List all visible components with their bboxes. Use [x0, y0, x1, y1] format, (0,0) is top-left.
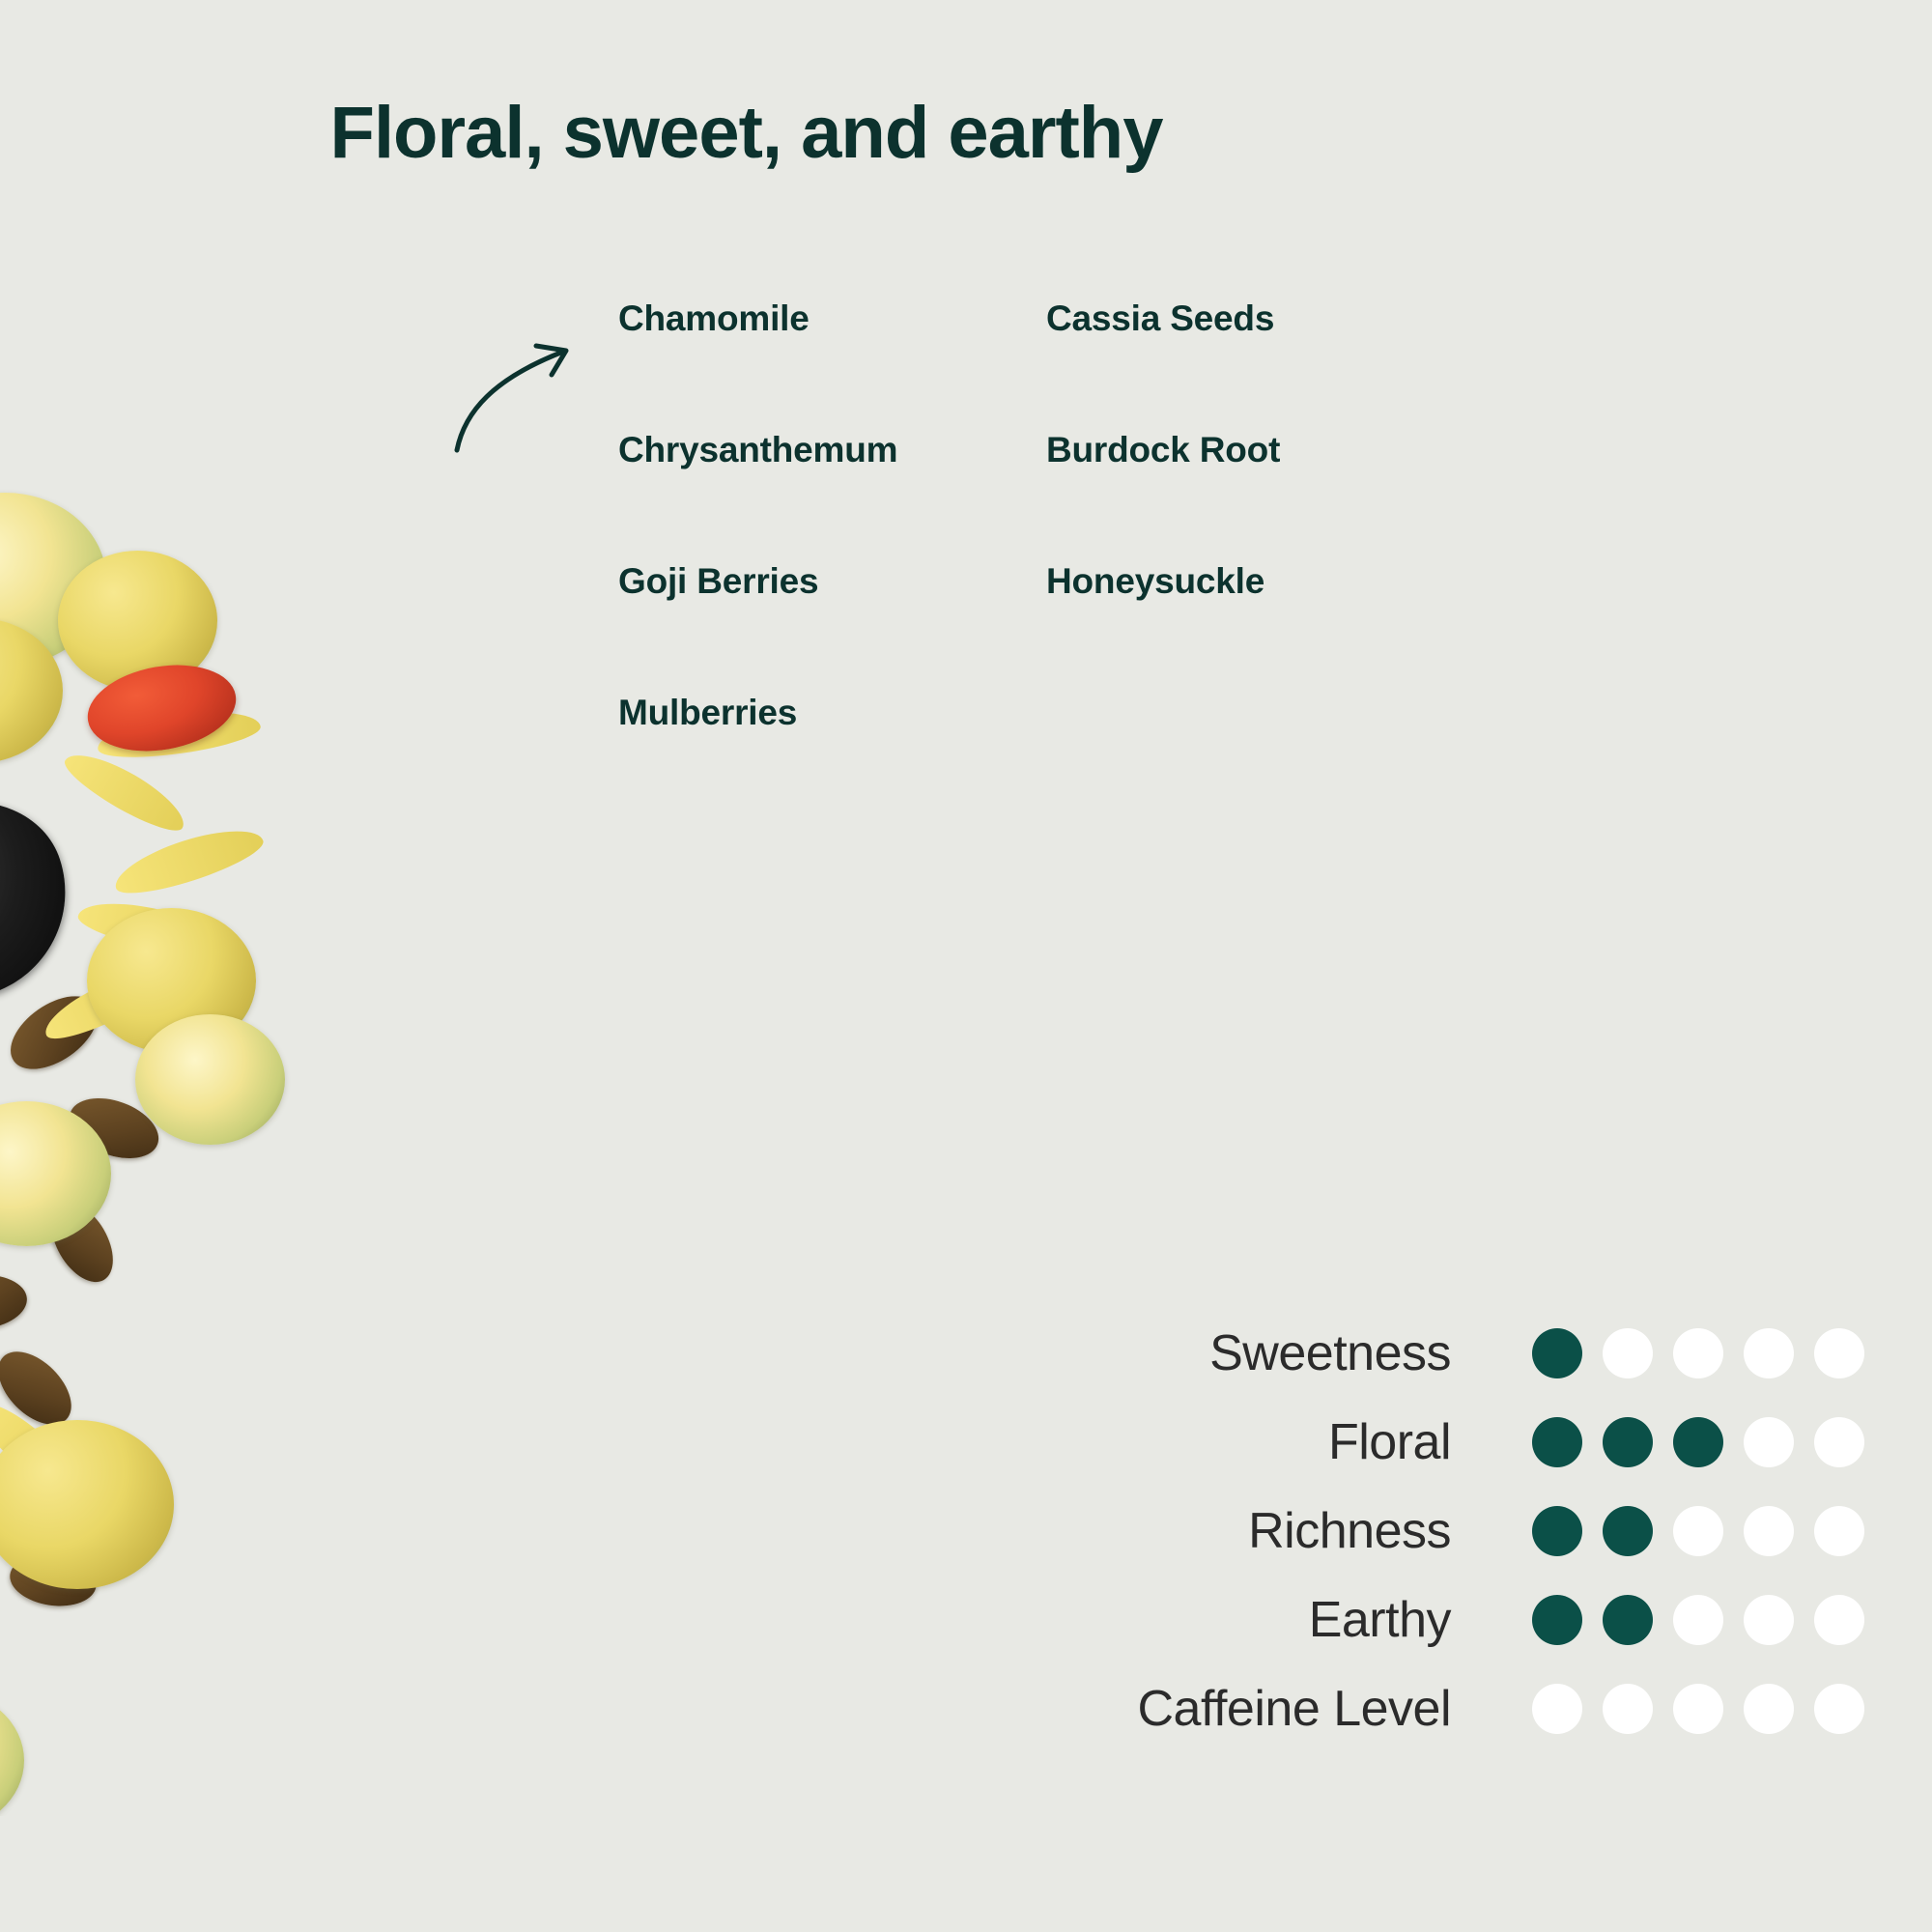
rating-dot-empty [1814, 1506, 1864, 1556]
rating-dot-empty [1814, 1595, 1864, 1645]
flavor-label: Floral [949, 1413, 1532, 1471]
rating-dots [1532, 1684, 1864, 1734]
rating-dot-filled [1603, 1595, 1653, 1645]
rating-dot-filled [1532, 1417, 1582, 1467]
rating-dot-filled [1603, 1417, 1653, 1467]
flavor-profile-row: Sweetness [580, 1309, 1864, 1398]
rating-dot-empty [1744, 1417, 1794, 1467]
ingredient-column-left: Chamomile Chrysanthemum Goji Berries Mul… [618, 290, 1024, 815]
rating-dot-filled [1532, 1506, 1582, 1556]
rating-dot-filled [1603, 1506, 1653, 1556]
flavor-profile-row: Richness [580, 1487, 1864, 1576]
rating-dot-empty [1744, 1595, 1794, 1645]
ingredient-column-right: Cassia Seeds Burdock Root Honeysuckle [1046, 290, 1452, 684]
rating-dot-empty [1603, 1684, 1653, 1734]
rating-dot-empty [1603, 1328, 1653, 1378]
rating-dots [1532, 1328, 1864, 1378]
ingredient-item: Chrysanthemum [618, 421, 1024, 553]
rating-dot-filled [1532, 1595, 1582, 1645]
rating-dots [1532, 1595, 1864, 1645]
rating-dot-empty [1744, 1684, 1794, 1734]
flavor-label: Sweetness [949, 1324, 1532, 1382]
ingredient-item: Goji Berries [618, 553, 1024, 684]
ingredient-item: Mulberries [618, 684, 1024, 815]
ingredient-item: Burdock Root [1046, 421, 1452, 553]
ingredient-item: Honeysuckle [1046, 553, 1452, 684]
ingredient-item: Cassia Seeds [1046, 290, 1452, 421]
flavor-label: Richness [949, 1502, 1532, 1560]
rating-dot-empty [1814, 1417, 1864, 1467]
curved-arrow-icon [440, 319, 623, 454]
flavor-profile-row: Caffeine Level [580, 1664, 1864, 1753]
flavor-profile-row: Floral [580, 1398, 1864, 1487]
rating-dot-empty [1673, 1595, 1723, 1645]
rating-dot-empty [1673, 1506, 1723, 1556]
rating-dot-filled [1532, 1328, 1582, 1378]
rating-dots [1532, 1506, 1864, 1556]
rating-dots [1532, 1417, 1864, 1467]
flavor-label: Caffeine Level [949, 1680, 1532, 1738]
rating-dot-empty [1814, 1328, 1864, 1378]
rating-dot-empty [1744, 1506, 1794, 1556]
rating-dot-filled [1673, 1417, 1723, 1467]
flavor-profile: SweetnessFloralRichnessEarthyCaffeine Le… [580, 1309, 1864, 1753]
rating-dot-empty [1532, 1684, 1582, 1734]
page-title: Floral, sweet, and earthy [0, 93, 1492, 174]
flavor-profile-row: Earthy [580, 1576, 1864, 1664]
flavor-label: Earthy [949, 1591, 1532, 1649]
rating-dot-empty [1744, 1328, 1794, 1378]
product-flavor-card: Floral, sweet, and earthy Chamomile Chry… [0, 0, 1932, 1932]
rating-dot-empty [1673, 1328, 1723, 1378]
rating-dot-empty [1673, 1684, 1723, 1734]
ingredient-item: Chamomile [618, 290, 1024, 421]
rating-dot-empty [1814, 1684, 1864, 1734]
